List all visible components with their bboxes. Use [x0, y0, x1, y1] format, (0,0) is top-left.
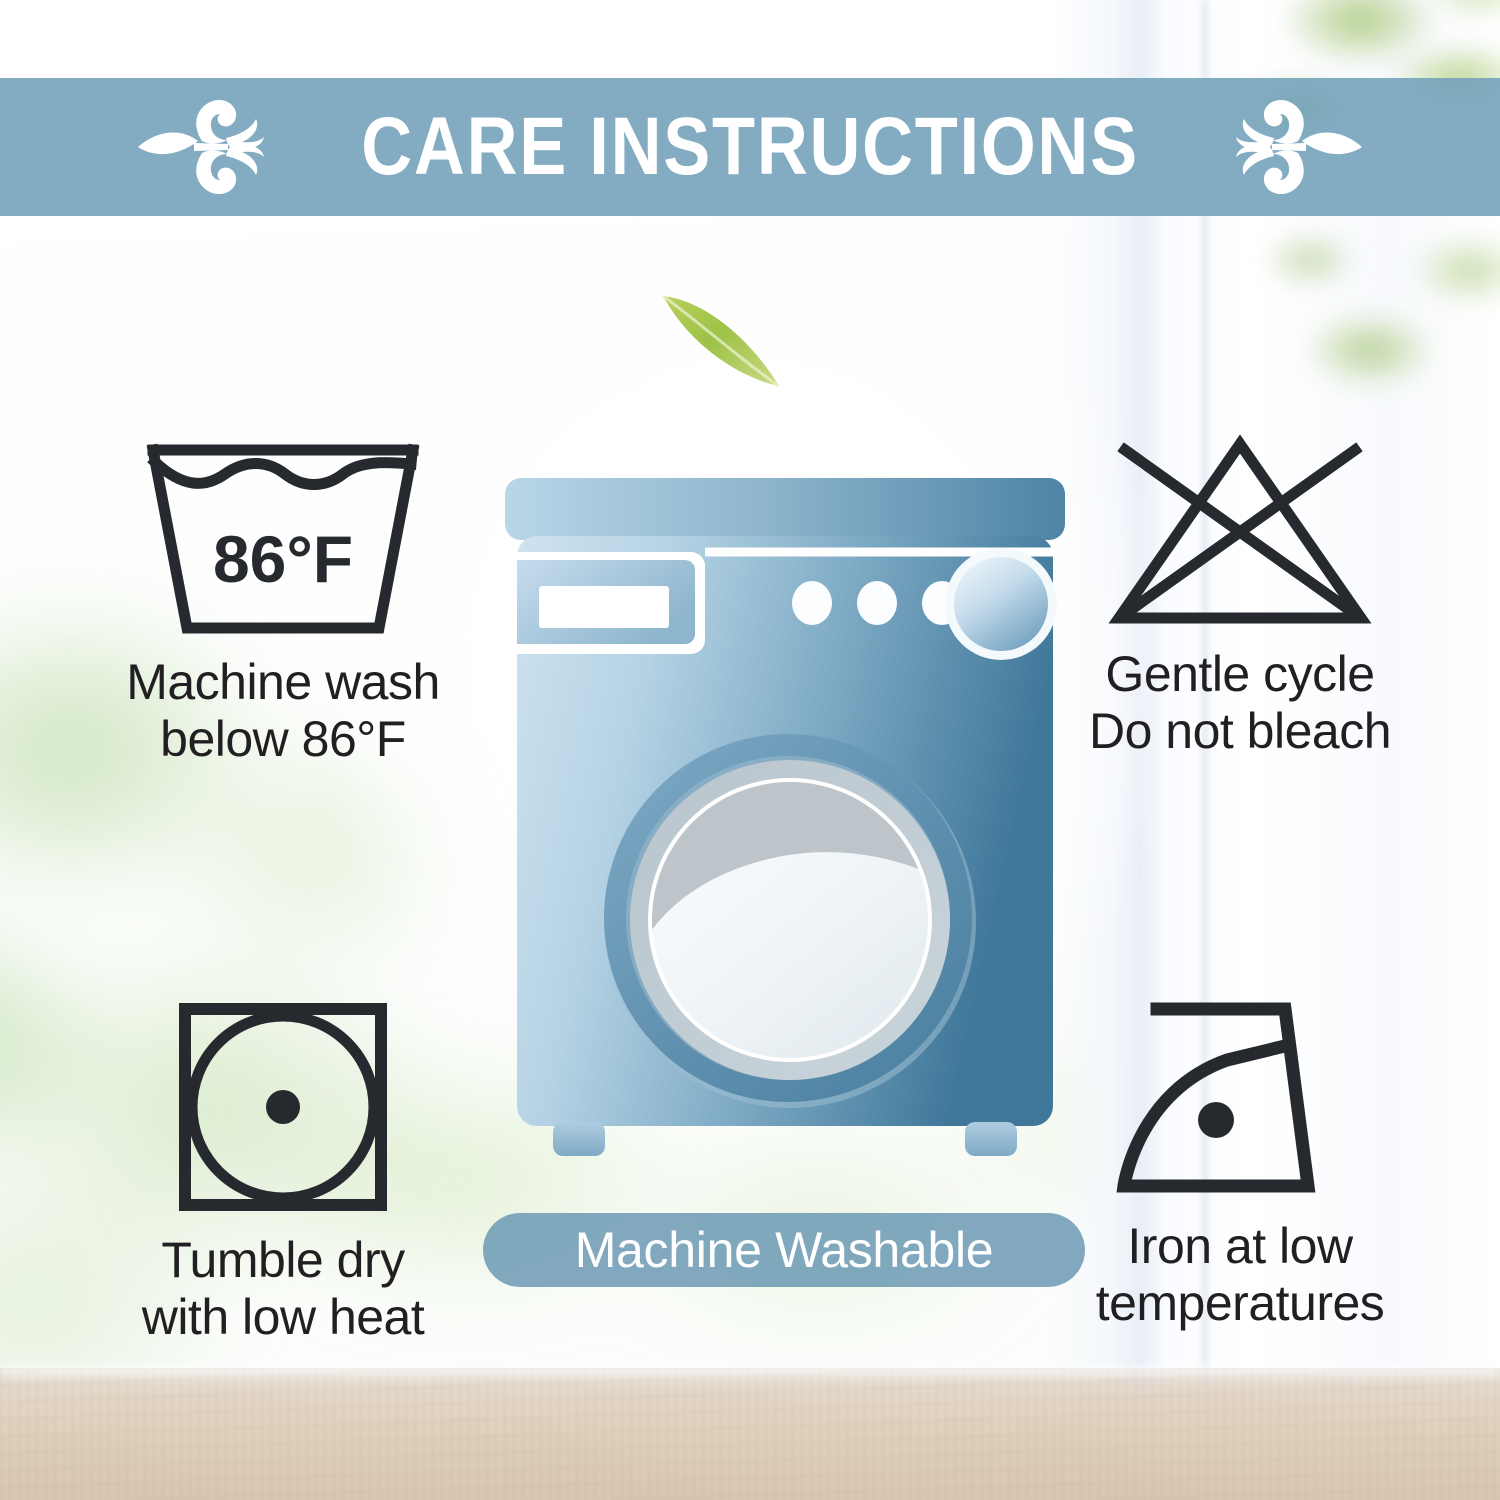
detergent-drawer	[517, 552, 705, 654]
crossed-triangle-icon	[1103, 432, 1377, 628]
leaf-icon	[655, 282, 790, 397]
indicator-light	[792, 581, 832, 625]
header-banner: CARE INSTRUCTIONS	[0, 78, 1500, 216]
machine-washable-badge: Machine Washable	[483, 1213, 1085, 1287]
table-edge-highlight	[0, 1366, 1500, 1382]
indicator-light	[857, 581, 897, 625]
fleur-de-lis-icon	[1236, 97, 1364, 197]
care-symbol-do-not-bleach: Gentle cycle Do not bleach	[1005, 432, 1475, 759]
iron-icon	[1115, 1000, 1365, 1200]
wash-temperature-value: 86°F	[213, 522, 353, 596]
care-symbol-machine-wash: 86°F Machine wash below 86°F	[48, 440, 518, 767]
control-knob[interactable]	[945, 548, 1057, 660]
machine-foot	[553, 1122, 605, 1156]
indicator-lights	[792, 581, 962, 625]
care-symbol-caption: Tumble dry with low heat	[142, 1232, 425, 1345]
page-title: CARE INSTRUCTIONS	[361, 106, 1139, 188]
machine-feet	[553, 1122, 1017, 1156]
care-symbol-caption: Machine wash below 86°F	[126, 654, 440, 767]
washer-door[interactable]	[604, 734, 976, 1108]
washing-machine-illustration	[495, 470, 1075, 1185]
status-badge-label: Machine Washable	[575, 1225, 994, 1275]
wash-tub-icon: 86°F	[145, 440, 421, 636]
machine-top-lid	[505, 478, 1065, 540]
foliage-right	[1220, 200, 1500, 460]
care-symbol-iron: Iron at low temperatures	[1005, 1000, 1475, 1331]
machine-foot	[965, 1122, 1017, 1156]
care-symbol-tumble-dry: Tumble dry with low heat	[48, 1000, 518, 1345]
wood-grain-texture	[0, 1368, 1500, 1500]
care-symbol-caption: Gentle cycle Do not bleach	[1089, 646, 1391, 759]
tumble-dry-icon	[176, 1000, 390, 1214]
fleur-de-lis-icon	[136, 97, 264, 197]
care-symbol-caption: Iron at low temperatures	[1096, 1218, 1385, 1331]
